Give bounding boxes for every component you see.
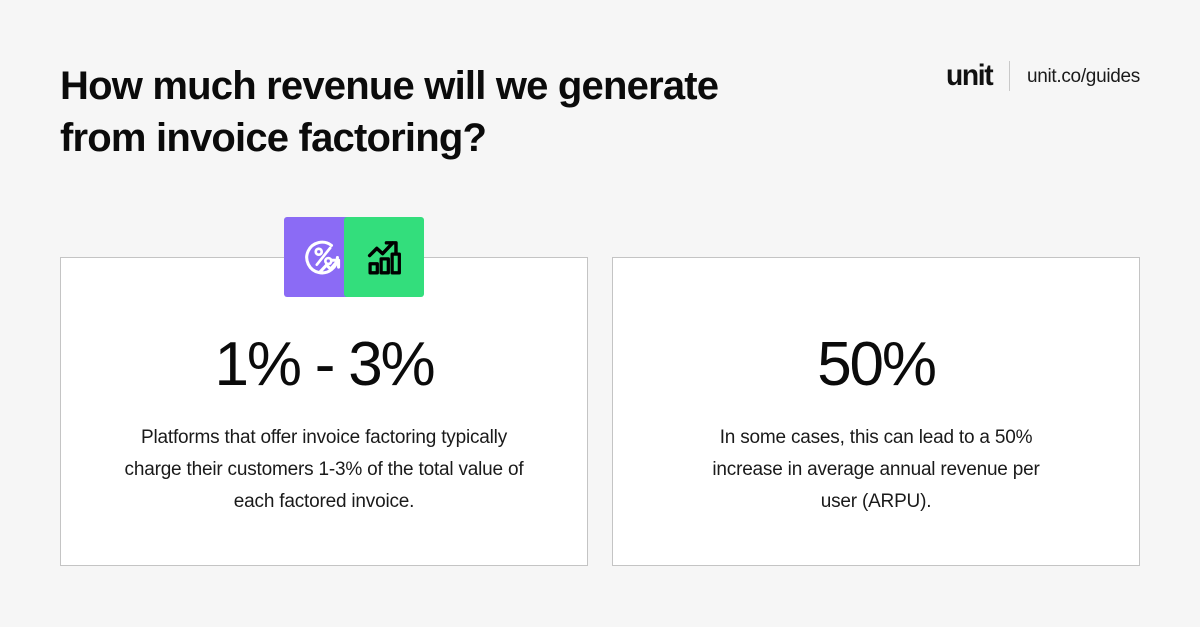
- page-title: How much revenue will we generate from i…: [60, 60, 760, 164]
- header: How much revenue will we generate from i…: [0, 0, 1200, 180]
- stat-card-arpu-increase: 50% In some cases, this can lead to a 50…: [612, 257, 1140, 566]
- brand: unit unit.co/guides: [943, 59, 1140, 93]
- stat-description: Platforms that offer invoice factoring t…: [124, 422, 524, 518]
- stat-value: 1% - 3%: [215, 332, 434, 398]
- unit-logo: unit: [946, 61, 992, 91]
- infographic-page: How much revenue will we generate from i…: [0, 0, 1200, 627]
- stat-description: In some cases, this can lead to a 50% in…: [701, 422, 1051, 518]
- stat-value: 50%: [817, 332, 935, 398]
- bar-chart-trend-up-icon: [344, 217, 424, 297]
- brand-divider: [1009, 61, 1010, 91]
- stat-card-factoring-fee: 1% - 3% Platforms that offer invoice fac…: [60, 257, 588, 566]
- card-body: 1% - 3% Platforms that offer invoice fac…: [61, 258, 587, 565]
- brand-url: unit.co/guides: [1027, 67, 1140, 86]
- card-body: 50% In some cases, this can lead to a 50…: [613, 258, 1139, 565]
- stat-cards: 1% - 3% Platforms that offer invoice fac…: [60, 257, 1140, 566]
